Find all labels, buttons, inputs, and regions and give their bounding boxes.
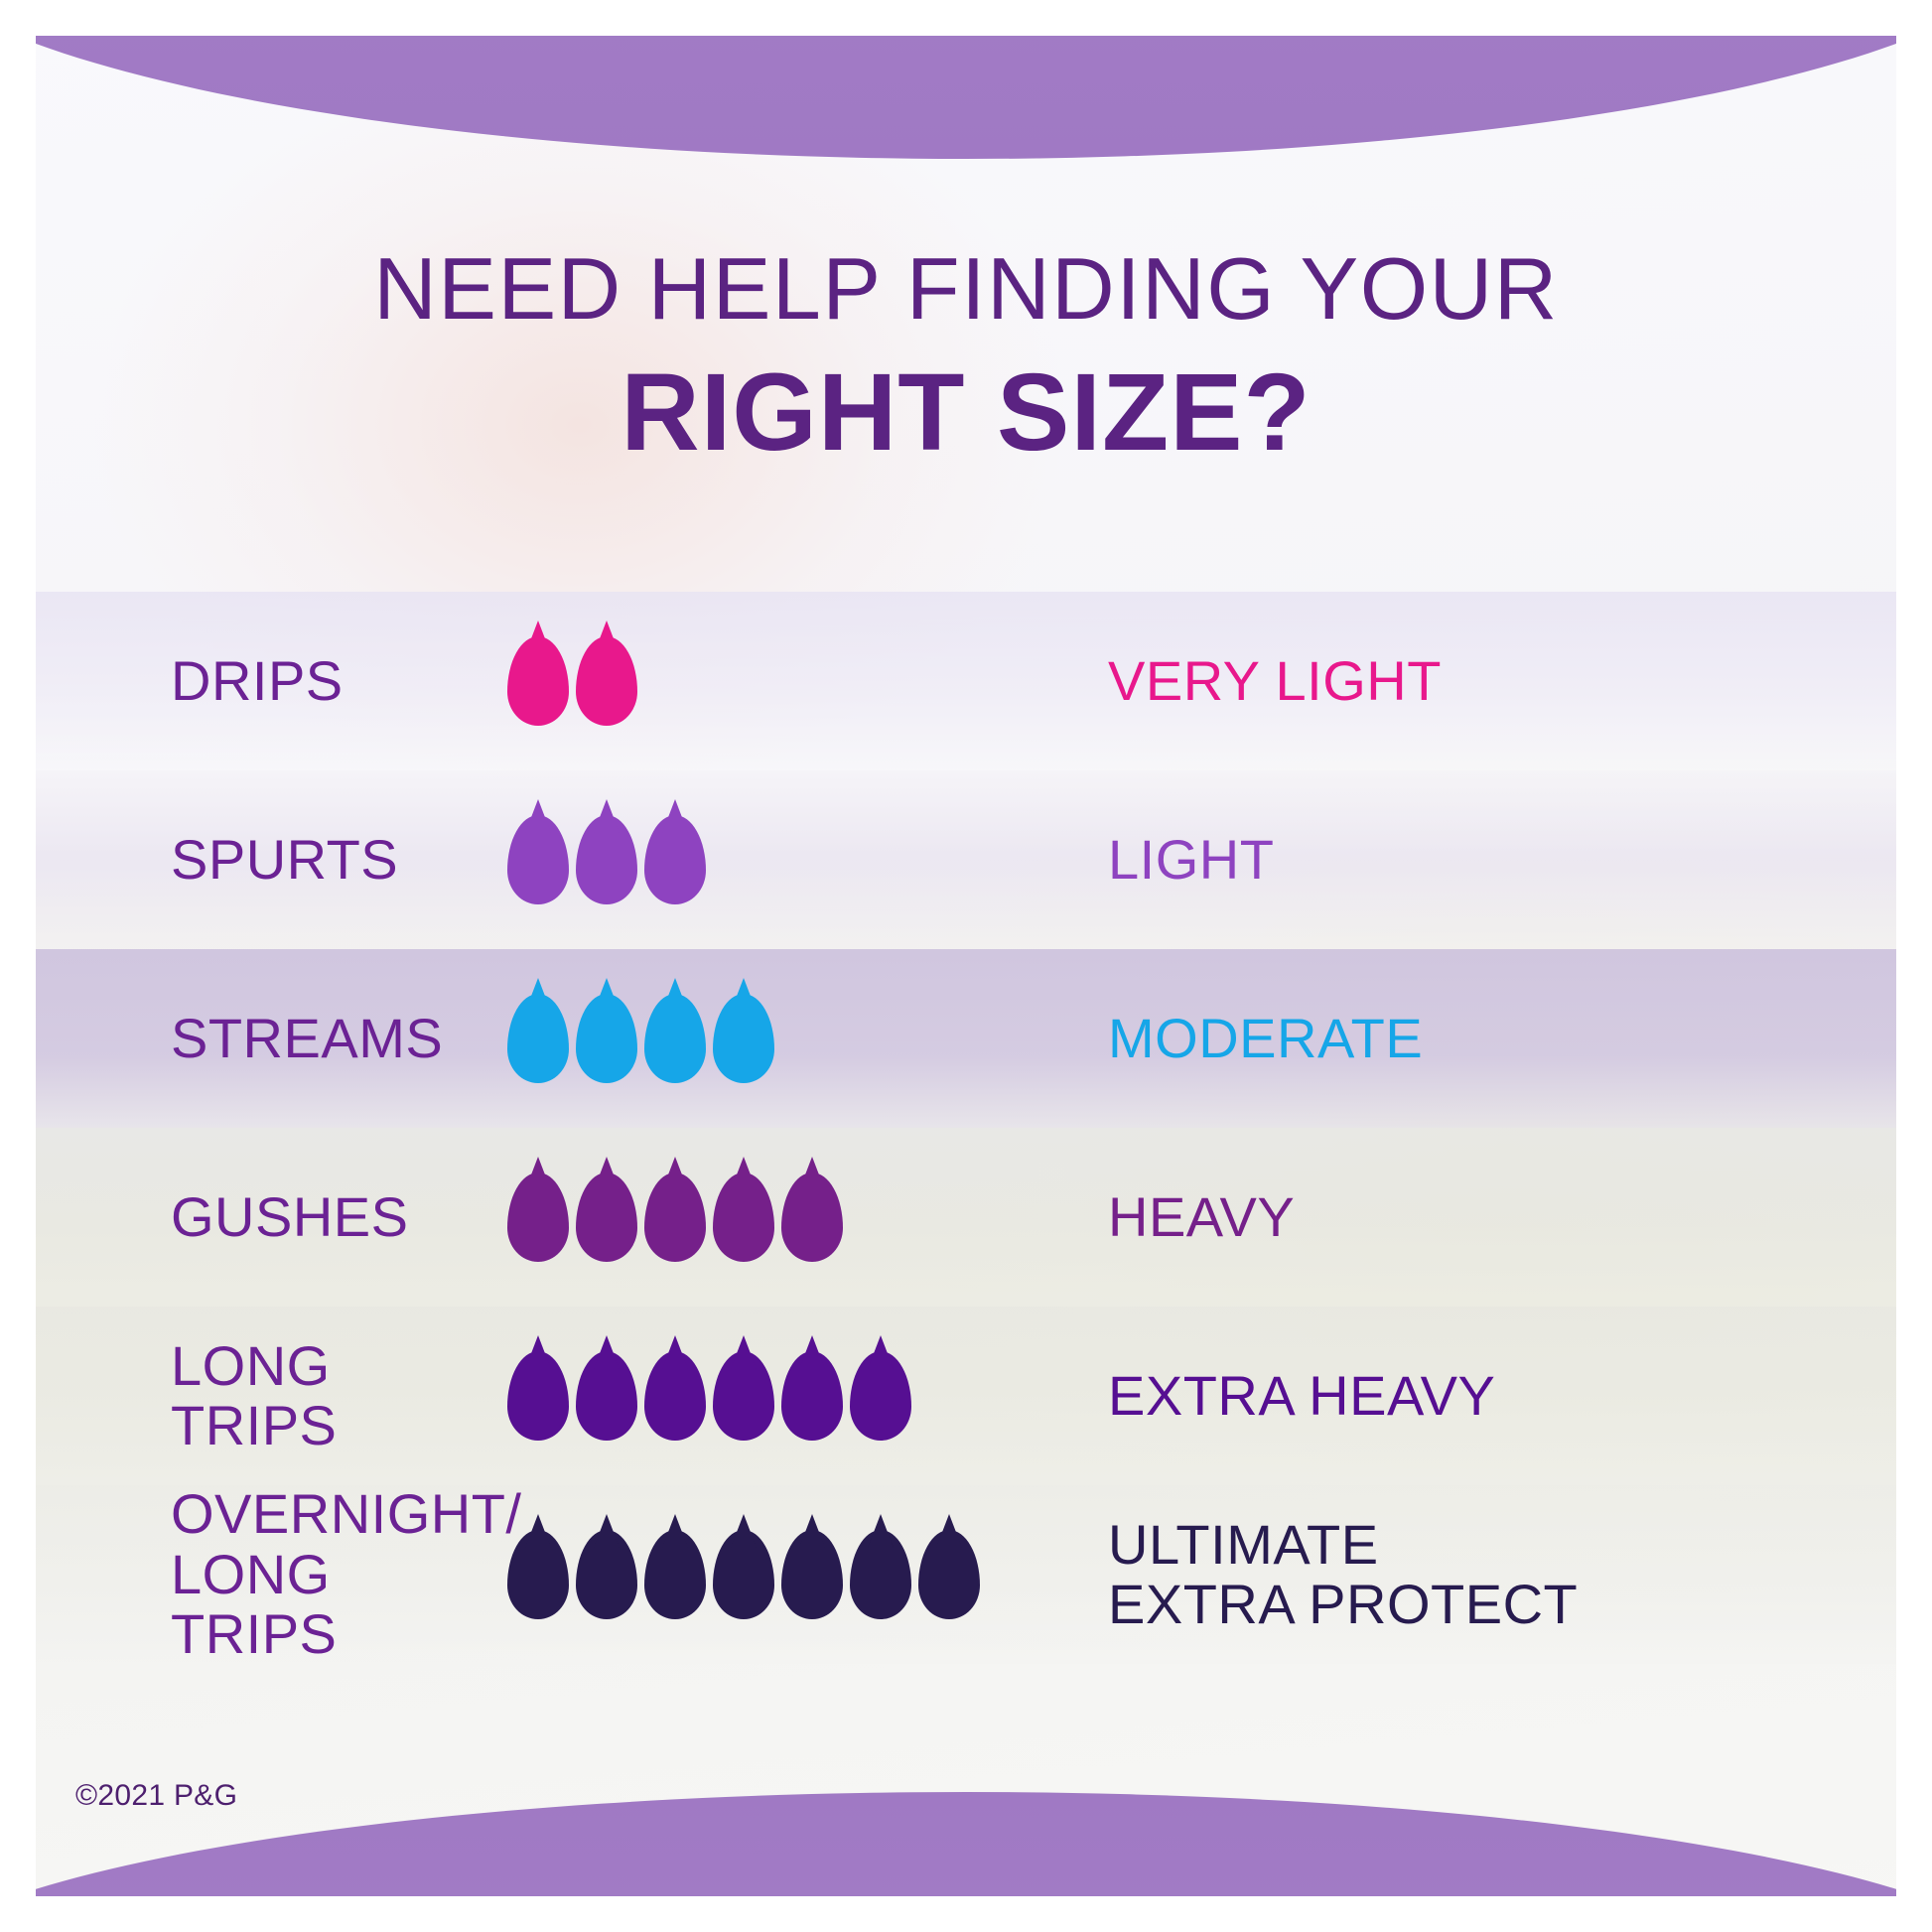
drop-rating-group xyxy=(433,994,1048,1083)
title-line-2: RIGHT SIZE? xyxy=(0,348,1932,478)
table-row: STREAMSMODERATE xyxy=(36,949,1896,1128)
flow-description-label: STREAMS xyxy=(36,1009,433,1068)
droplet-icon xyxy=(507,815,569,904)
droplet-icon xyxy=(713,1351,774,1441)
size-guide-infographic: NEED HELP FINDING YOUR RIGHT SIZE? DRIPS… xyxy=(0,0,1932,1932)
droplet-icon xyxy=(644,1173,706,1262)
droplet-icon xyxy=(850,1351,911,1441)
droplet-icon xyxy=(781,1351,843,1441)
title-line-1: NEED HELP FINDING YOUR xyxy=(0,242,1932,335)
copyright-notice: ©2021 P&G xyxy=(75,1779,237,1813)
droplet-icon xyxy=(507,1351,569,1441)
droplet-icon xyxy=(781,1173,843,1262)
flow-description-label: LONG TRIPS xyxy=(36,1336,433,1456)
droplet-icon xyxy=(713,1530,774,1619)
drop-rating-group xyxy=(433,1351,1048,1441)
droplet-icon xyxy=(576,1351,637,1441)
page-title: NEED HELP FINDING YOUR RIGHT SIZE? xyxy=(0,242,1932,478)
droplet-icon xyxy=(576,815,637,904)
droplet-icon xyxy=(918,1530,980,1619)
absorbency-table: DRIPSVERY LIGHTSPURTSLIGHTSTREAMSMODERAT… xyxy=(36,592,1896,1664)
droplet-icon xyxy=(644,994,706,1083)
drop-rating-group xyxy=(433,636,1048,726)
droplet-icon xyxy=(850,1530,911,1619)
droplet-icon xyxy=(576,994,637,1083)
drop-rating-group xyxy=(433,1173,1048,1262)
table-row: DRIPSVERY LIGHT xyxy=(36,592,1896,770)
droplet-icon xyxy=(576,1530,637,1619)
droplet-icon xyxy=(507,1530,569,1619)
flow-description-label: SPURTS xyxy=(36,830,433,890)
droplet-icon xyxy=(644,1530,706,1619)
droplet-icon xyxy=(644,815,706,904)
table-row: SPURTSLIGHT xyxy=(36,770,1896,949)
flow-description-label: DRIPS xyxy=(36,651,433,711)
drop-rating-group xyxy=(433,1530,1048,1619)
droplet-icon xyxy=(576,1173,637,1262)
droplet-icon xyxy=(713,994,774,1083)
flow-description-label: OVERNIGHT/ LONG TRIPS xyxy=(36,1484,433,1664)
droplet-icon xyxy=(713,1173,774,1262)
drop-rating-group xyxy=(433,815,1048,904)
droplet-icon xyxy=(507,1173,569,1262)
flow-description-label: GUSHES xyxy=(36,1187,433,1247)
absorbency-level-label: HEAVY xyxy=(1048,1187,1896,1247)
droplet-icon xyxy=(507,636,569,726)
table-row: LONG TRIPSEXTRA HEAVY xyxy=(36,1307,1896,1485)
droplet-icon xyxy=(576,636,637,726)
absorbency-level-label: ULTIMATE EXTRA PROTECT xyxy=(1048,1515,1896,1635)
table-row: GUSHESHEAVY xyxy=(36,1128,1896,1307)
absorbency-level-label: VERY LIGHT xyxy=(1048,651,1896,711)
droplet-icon xyxy=(507,994,569,1083)
absorbency-level-label: MODERATE xyxy=(1048,1009,1896,1068)
droplet-icon xyxy=(644,1351,706,1441)
table-row: OVERNIGHT/ LONG TRIPSULTIMATE EXTRA PROT… xyxy=(36,1485,1896,1664)
absorbency-level-label: LIGHT xyxy=(1048,830,1896,890)
droplet-icon xyxy=(781,1530,843,1619)
absorbency-level-label: EXTRA HEAVY xyxy=(1048,1366,1896,1426)
